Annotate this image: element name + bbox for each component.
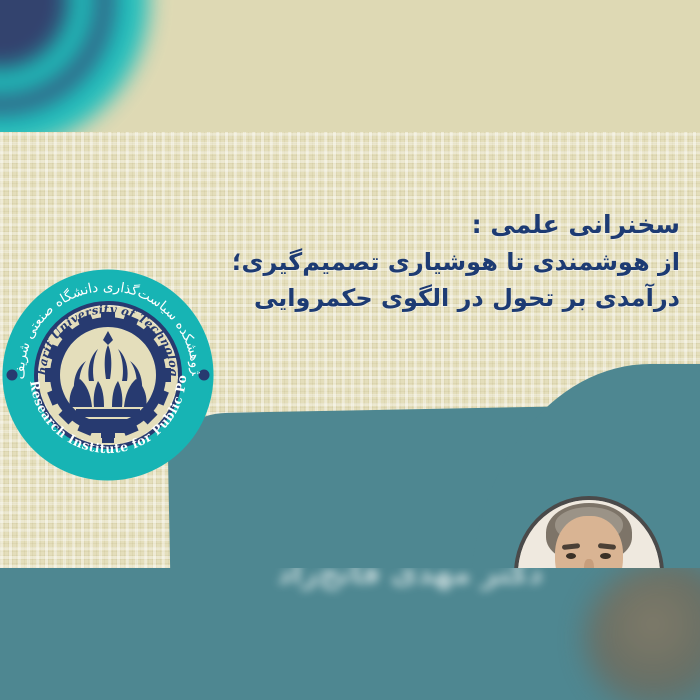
sharif-university-logo-icon: پژوهشکده سیاست‌گذاری دانشگاه صنعتی شریف … bbox=[2, 269, 214, 481]
portrait-eye-left bbox=[566, 553, 577, 559]
poster-panel: سخنرانی علمی : از هوشمندی تا هوشیاری تصم… bbox=[0, 132, 700, 568]
portrait-nose bbox=[584, 559, 594, 568]
portrait-eye-right bbox=[600, 553, 611, 559]
headline-line-1: سخنرانی علمی : bbox=[20, 206, 680, 244]
presentation-poster: دکتر مهدی فاتح‌راد سخنرانی علمی : از هوش… bbox=[0, 0, 700, 700]
speaker-portrait bbox=[514, 496, 664, 568]
blurred-logo-backdrop bbox=[0, 0, 150, 150]
